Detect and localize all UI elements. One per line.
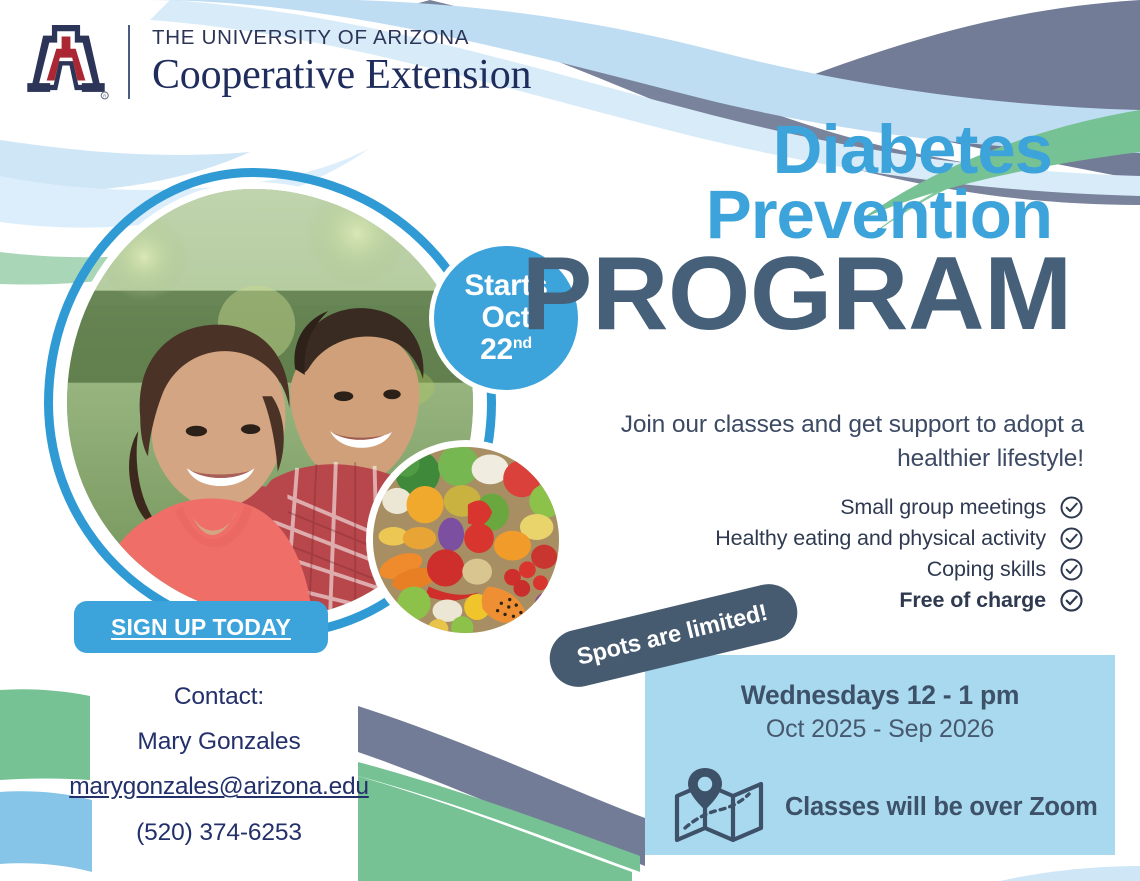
- unit-name: Cooperative Extension: [152, 54, 531, 96]
- benefits-list: Small group meetings Healthy eating and …: [544, 495, 1084, 619]
- benefit-item: Coping skills: [544, 557, 1084, 582]
- benefit-item: Free of charge: [544, 588, 1084, 613]
- schedule-location-row: Classes will be over Zoom: [645, 766, 1115, 848]
- sign-up-today-button[interactable]: SIGN UP TODAY: [74, 601, 328, 653]
- contact-name: Mary Gonzales: [24, 723, 414, 760]
- logo-divider: [128, 25, 130, 99]
- benefit-label: Healthy eating and physical activity: [715, 526, 1046, 551]
- benefit-item: Small group meetings: [544, 495, 1084, 520]
- benefit-label: Coping skills: [927, 557, 1046, 582]
- benefit-label: Small group meetings: [840, 495, 1046, 520]
- contact-phone: (520) 374-6253: [24, 814, 414, 851]
- check-circle-icon: [1059, 588, 1084, 613]
- check-circle-icon: [1059, 526, 1084, 551]
- university-of-arizona-block-a-logo: R: [22, 18, 110, 106]
- contact-email-link[interactable]: marygonzales@arizona.edu: [24, 768, 414, 805]
- contact-block: Contact: Mary Gonzales marygonzales@ariz…: [24, 678, 414, 851]
- tagline: Join our classes and get support to adop…: [552, 408, 1084, 476]
- brand-header: R THE UNIVERSITY OF ARIZONA Cooperative …: [22, 18, 531, 106]
- check-circle-icon: [1059, 557, 1084, 582]
- map-pin-icon: [671, 766, 767, 848]
- title-line-program: PROGRAM: [522, 249, 1052, 341]
- benefit-label: Free of charge: [899, 588, 1046, 613]
- flyer-canvas: R THE UNIVERSITY OF ARIZONA Cooperative …: [0, 0, 1140, 881]
- contact-heading: Contact:: [24, 678, 414, 715]
- assorted-fruits-and-vegetables-circle-photo: [373, 447, 559, 633]
- benefit-item: Healthy eating and physical activity: [544, 526, 1084, 551]
- title-line-diabetes: Diabetes: [532, 118, 1052, 182]
- schedule-panel: Wednesdays 12 - 1 pm Oct 2025 - Sep 2026…: [645, 655, 1115, 855]
- check-circle-icon: [1059, 495, 1084, 520]
- schedule-time: Wednesdays 12 - 1 pm: [645, 680, 1115, 711]
- food-photo-circle: [366, 440, 566, 640]
- sign-up-label: SIGN UP TODAY: [111, 614, 291, 641]
- schedule-location-note: Classes will be over Zoom: [785, 793, 1098, 822]
- bottom-right-pale-wave: [1000, 866, 1140, 881]
- schedule-date-range: Oct 2025 - Sep 2026: [645, 715, 1115, 744]
- svg-text:R: R: [103, 94, 106, 99]
- university-name: THE UNIVERSITY OF ARIZONA: [152, 28, 531, 49]
- page-title: Diabetes Prevention PROGRAM: [532, 118, 1052, 341]
- brand-wordmark: THE UNIVERSITY OF ARIZONA Cooperative Ex…: [152, 28, 531, 96]
- start-badge-day-number: 22: [480, 333, 513, 366]
